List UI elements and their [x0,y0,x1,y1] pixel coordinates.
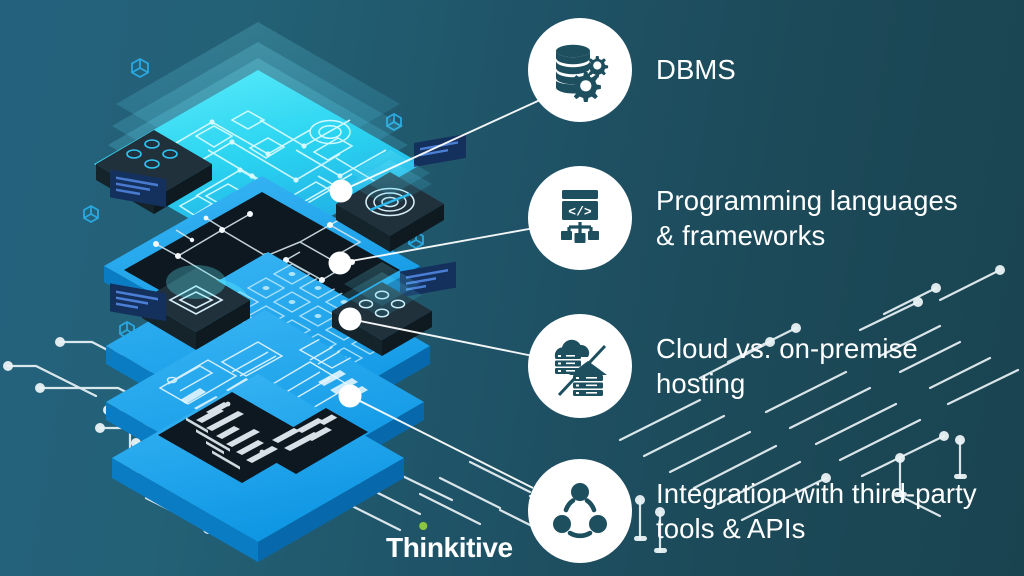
feature-label: Integration with third-party tools & API… [656,476,977,546]
icon-bubble-dbms [528,18,632,122]
share-network-icon [548,479,612,543]
thinkitive-logo: Thinkitive [386,532,513,564]
logo-text-part2: i [419,532,426,564]
slide-canvas: DBMS </> Pro [0,0,1024,576]
logo-text-part1: Th [386,532,419,564]
feature-label: Programming languages & frameworks [656,183,958,253]
feature-item-dbms[interactable]: DBMS [528,18,736,122]
feature-label: Cloud vs. on-premise hosting [656,331,918,401]
feature-list: DBMS </> Pro [0,0,1024,576]
icon-bubble-hosting [528,314,632,418]
logo-text-part3: nkitive [427,532,513,564]
feature-item-hosting[interactable]: Cloud vs. on-premise hosting [528,314,918,418]
feature-item-programming[interactable]: </> Programming languages & frameworks [528,166,958,270]
logo-green-dot [419,522,427,530]
icon-bubble-programming: </> [528,166,632,270]
svg-text:</>: </> [568,205,592,220]
feature-item-integration[interactable]: Integration with third-party tools & API… [528,459,977,563]
cloud-vs-onpremise-icon [547,333,613,399]
icon-bubble-integration [528,459,632,563]
database-gears-icon [548,38,612,102]
code-window-flowchart-icon: </> [549,187,611,249]
feature-label: DBMS [656,52,736,87]
